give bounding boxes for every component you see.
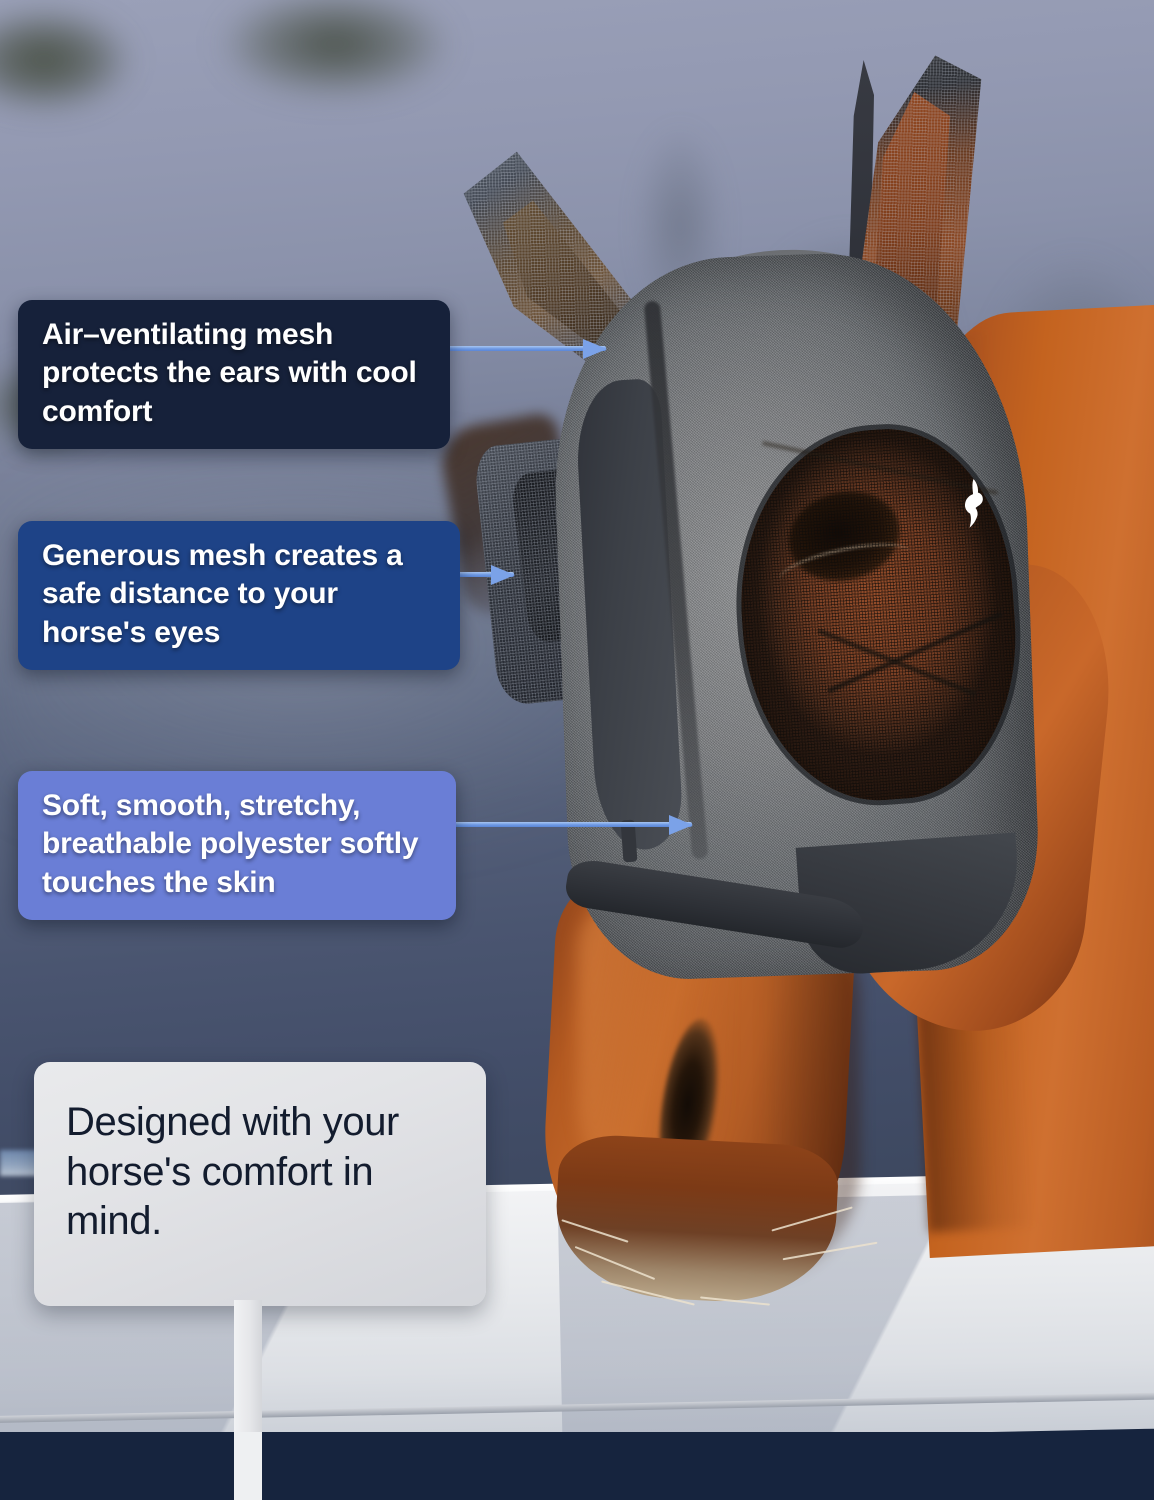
muzzle-tip xyxy=(552,1133,840,1307)
arrow-right-icon xyxy=(491,565,515,585)
callout-text-fabric: Soft, smooth, stretchy, breathable polye… xyxy=(42,789,418,899)
arrow-right-icon xyxy=(583,339,607,359)
callout-box-eyes: Generous mesh creates a safe distance to… xyxy=(18,521,460,670)
horse-head-logo-icon xyxy=(959,477,990,529)
callout-arrow-ears xyxy=(444,344,606,353)
callout-arrow-fabric xyxy=(450,820,692,829)
callout-arrow-eyes xyxy=(452,570,514,579)
arrow-right-icon xyxy=(669,815,693,835)
bottom-navy-band xyxy=(0,1432,1154,1500)
sign-text: Designed with your horse's comfort in mi… xyxy=(66,1098,456,1247)
infographic-canvas: Air–ventilating mesh protects the ears w… xyxy=(0,0,1154,1500)
sign-post-lower xyxy=(234,1432,262,1500)
callout-text-eyes: Generous mesh creates a safe distance to… xyxy=(42,539,403,649)
arrow-shaft xyxy=(450,822,692,827)
sign-card: Designed with your horse's comfort in mi… xyxy=(34,1062,486,1306)
callout-box-ears: Air–ventilating mesh protects the ears w… xyxy=(18,300,450,449)
callout-text-ears: Air–ventilating mesh protects the ears w… xyxy=(42,318,417,428)
arrow-shaft xyxy=(444,346,606,351)
callout-box-fabric: Soft, smooth, stretchy, breathable polye… xyxy=(18,771,456,920)
